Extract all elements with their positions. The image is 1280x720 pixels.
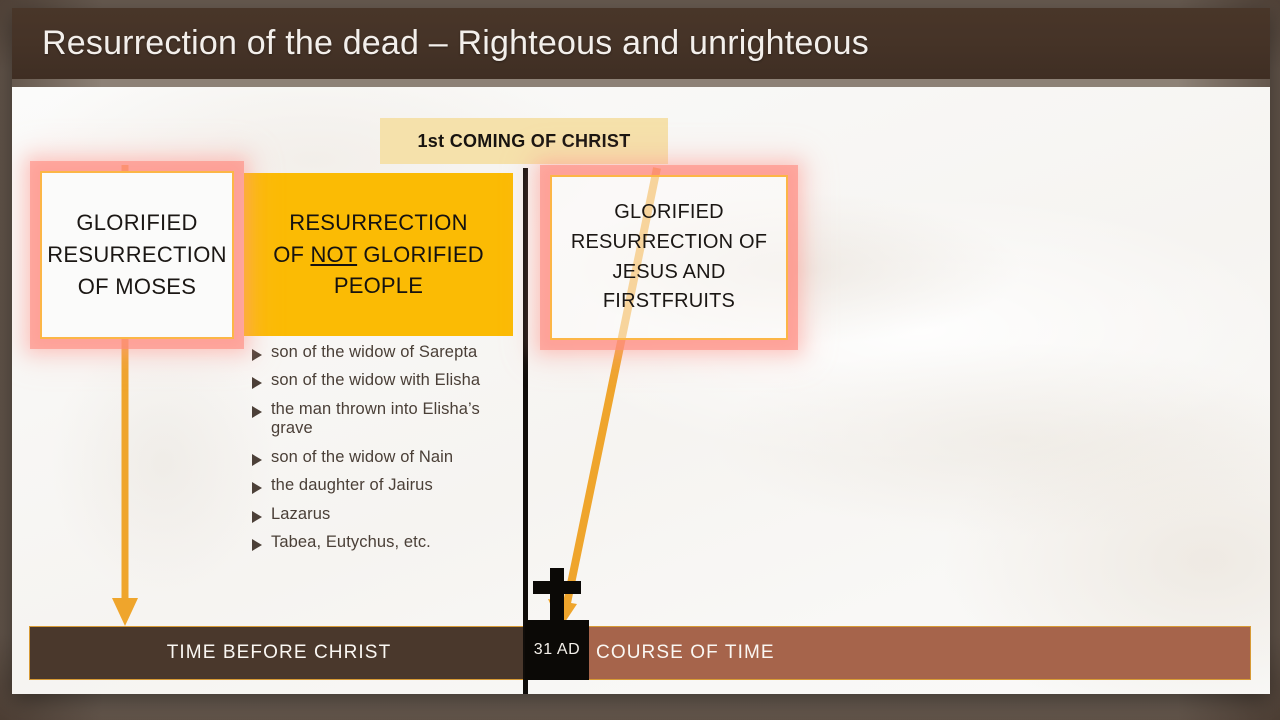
box-resurrection-of-not-glorified-people: RESURRECTION OF NOT GLORIFIED PEOPLE xyxy=(244,173,513,336)
list-item-label: the daughter of Jairus xyxy=(271,476,433,495)
not-glorified-prefix: OF xyxy=(273,242,310,267)
box-moses-line-2: RESURRECTION xyxy=(47,239,227,271)
box-jesus-text: GLORIFIED RESURRECTION OF JESUS AND FIRS… xyxy=(571,198,767,316)
not-glorified-emphasis: NOT xyxy=(310,242,357,267)
list-item-label: son of the widow of Nain xyxy=(271,448,453,467)
triangle-bullet-icon xyxy=(252,349,262,361)
list-item: son of the widow of Sarepta xyxy=(252,343,514,362)
box-not-glorified-text: RESURRECTION OF NOT GLORIFIED PEOPLE xyxy=(273,207,484,303)
timeline-after-label: COURSE OF TIME xyxy=(596,642,775,664)
timeline-segment-course-of-time: COURSE OF TIME xyxy=(528,627,1250,679)
box-moses-text: GLORIFIED RESURRECTION OF MOSES xyxy=(47,207,227,303)
status-badge-31-ad: 31 AD xyxy=(525,620,589,680)
box-not-glorified-line-2: OF NOT GLORIFIED xyxy=(273,239,484,271)
triangle-bullet-icon xyxy=(252,482,262,494)
first-coming-banner: 1st COMING OF CHRIST xyxy=(380,118,668,164)
box-not-glorified-line-3: PEOPLE xyxy=(273,270,484,302)
list-item: Lazarus xyxy=(252,505,514,524)
box-jesus-line-1: GLORIFIED xyxy=(571,198,767,228)
list-item-label: the man thrown into Elisha’s grave xyxy=(271,400,514,439)
triangle-bullet-icon xyxy=(252,511,262,523)
not-glorified-suffix: GLORIFIED xyxy=(357,242,484,267)
badge-31-ad-label: 31 AD xyxy=(534,641,581,659)
list-item-label: son of the widow of Sarepta xyxy=(271,343,477,362)
box-moses-line-3: OF MOSES xyxy=(47,271,227,303)
list-item: the daughter of Jairus xyxy=(252,476,514,495)
triangle-bullet-icon xyxy=(252,539,262,551)
box-jesus-line-4: FIRSTFRUITS xyxy=(571,287,767,317)
arrow-layer xyxy=(12,8,1270,694)
triangle-bullet-icon xyxy=(252,406,262,418)
slide-canvas: 1st COMING OF CHRIST GLORIFIED RESURRECT… xyxy=(12,8,1270,694)
timeline-before-label: TIME BEFORE CHRIST xyxy=(167,642,392,664)
first-coming-banner-label: 1st COMING OF CHRIST xyxy=(417,131,630,152)
list-item: son of the widow with Elisha xyxy=(252,371,514,390)
triangle-bullet-icon xyxy=(252,377,262,389)
list-item-label: Lazarus xyxy=(271,505,330,524)
triangle-bullet-icon xyxy=(252,454,262,466)
box-glorified-resurrection-of-moses: GLORIFIED RESURRECTION OF MOSES xyxy=(40,171,234,339)
list-item: son of the widow of Nain xyxy=(252,448,514,467)
not-glorified-people-list: son of the widow of Sarepta son of the w… xyxy=(252,343,514,562)
box-not-glorified-line-1: RESURRECTION xyxy=(273,207,484,239)
box-moses-line-1: GLORIFIED xyxy=(47,207,227,239)
timeline-segment-before-christ: TIME BEFORE CHRIST xyxy=(30,627,528,679)
list-item-label: son of the widow with Elisha xyxy=(271,371,480,390)
list-item: Tabea, Eutychus, etc. xyxy=(252,533,514,552)
box-glorified-resurrection-of-jesus: GLORIFIED RESURRECTION OF JESUS AND FIRS… xyxy=(550,175,788,340)
list-item-label: Tabea, Eutychus, etc. xyxy=(271,533,431,552)
first-coming-divider-line xyxy=(523,168,528,694)
box-jesus-line-2: RESURRECTION OF xyxy=(571,228,767,258)
timeline-bar: TIME BEFORE CHRIST COURSE OF TIME xyxy=(29,626,1251,680)
box-jesus-line-3: JESUS AND xyxy=(571,258,767,288)
list-item: the man thrown into Elisha’s grave xyxy=(252,400,514,439)
